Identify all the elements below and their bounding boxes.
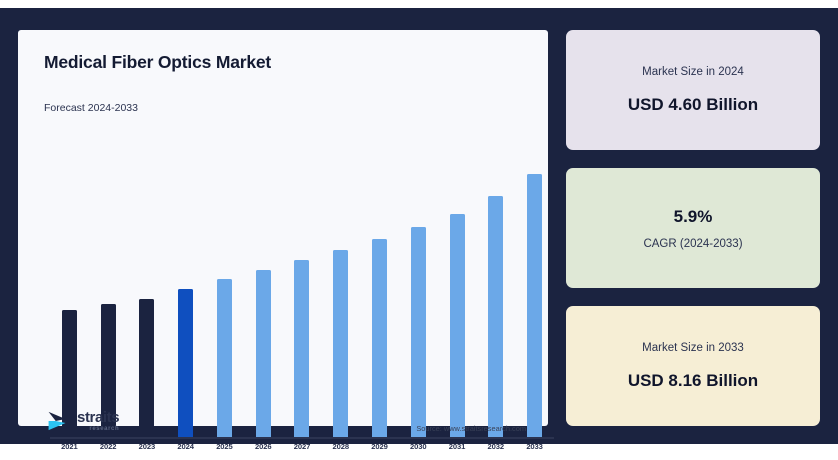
x-label-2026: 2026 (244, 442, 283, 451)
bar-slot (321, 160, 360, 437)
bar-series (50, 160, 554, 437)
bar-2025 (217, 279, 232, 437)
x-label-2025: 2025 (205, 442, 244, 451)
x-label-2027: 2027 (283, 442, 322, 451)
bar-slot (128, 160, 167, 437)
source-attribution: Source: www.straitsresearch.com (416, 424, 526, 433)
bar-2028 (333, 250, 348, 437)
bar-slot (166, 160, 205, 437)
stat-card-cagr: 5.9%CAGR (2024-2033) (566, 168, 820, 288)
bar-2024 (178, 289, 193, 437)
x-axis-line (50, 437, 554, 439)
chart-panel: Medical Fiber Optics Market Forecast 202… (18, 30, 548, 426)
bar-2023 (139, 299, 154, 438)
stat-card-value: USD 8.16 Billion (628, 371, 758, 391)
x-label-2021: 2021 (50, 442, 89, 451)
x-label-2022: 2022 (89, 442, 128, 451)
bar-chart-plot: 2021202220232024202520262027202820292030… (36, 120, 536, 350)
bar-slot (50, 160, 89, 437)
bar-slot (360, 160, 399, 437)
stat-card-list: Market Size in 2024USD 4.60 Billion5.9%C… (566, 30, 820, 426)
infographic-root: Medical Fiber Optics Market Forecast 202… (0, 0, 838, 460)
bar-2031 (450, 214, 465, 437)
bar-slot (283, 160, 322, 437)
x-axis-tick-labels: 2021202220232024202520262027202820292030… (50, 442, 554, 451)
bar-slot (476, 160, 515, 437)
bar-2032 (488, 196, 503, 437)
x-label-2032: 2032 (476, 442, 515, 451)
bar-2027 (294, 260, 309, 437)
x-label-2024: 2024 (166, 442, 205, 451)
x-label-2029: 2029 (360, 442, 399, 451)
stat-card-label: CAGR (2024-2033) (643, 238, 742, 250)
bar-slot (89, 160, 128, 437)
x-label-2033: 2033 (515, 442, 554, 451)
stat-card-market-size-2024: Market Size in 2024USD 4.60 Billion (566, 30, 820, 150)
x-label-2028: 2028 (321, 442, 360, 451)
chart-subtitle: Forecast 2024-2033 (44, 102, 138, 114)
x-label-2030: 2030 (399, 442, 438, 451)
bar-2029 (372, 239, 387, 437)
stat-card-value: 5.9% (674, 207, 713, 227)
logo-name: straits (77, 410, 119, 425)
bar-2030 (411, 227, 426, 437)
bar-slot (399, 160, 438, 437)
stat-card-label: Market Size in 2024 (642, 66, 744, 78)
x-label-2031: 2031 (438, 442, 477, 451)
bar-2033 (527, 174, 542, 437)
brand-logo: straits research (46, 408, 119, 434)
stat-card-market-size-2033: Market Size in 2033USD 8.16 Billion (566, 306, 820, 426)
logo-text: straits research (77, 410, 119, 432)
bar-slot (515, 160, 554, 437)
page-title: Medical Fiber Optics Market (44, 52, 271, 73)
bar-slot (205, 160, 244, 437)
bar-2026 (256, 270, 271, 437)
straits-arrow-icon (46, 408, 72, 434)
bar-slot (244, 160, 283, 437)
stat-card-value: USD 4.60 Billion (628, 95, 758, 115)
x-label-2023: 2023 (128, 442, 167, 451)
logo-subtitle: research (77, 426, 119, 432)
stat-card-label: Market Size in 2033 (642, 342, 744, 354)
bar-slot (438, 160, 477, 437)
